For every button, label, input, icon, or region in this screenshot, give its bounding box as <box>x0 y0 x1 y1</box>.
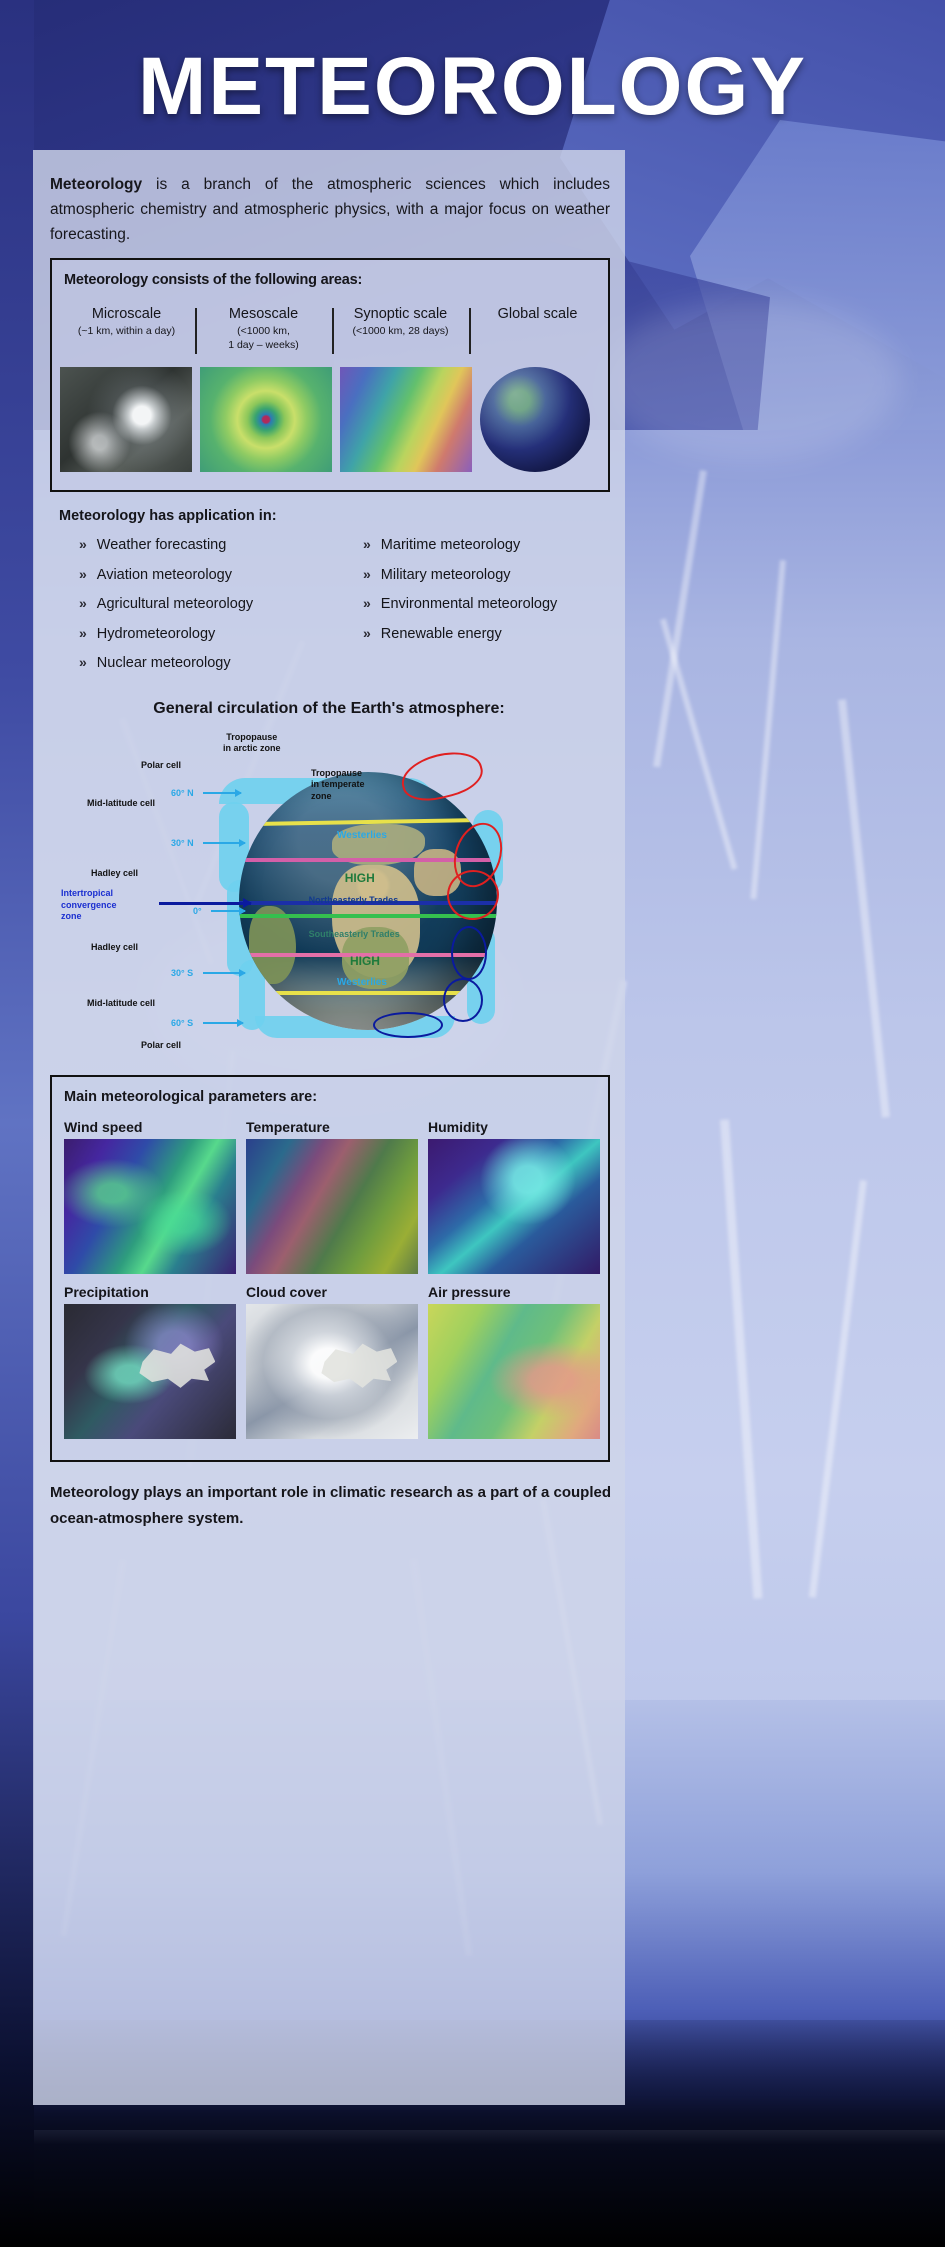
latitude-30n-label: 30° N <box>171 838 194 848</box>
latitude-0-arrow <box>211 910 245 912</box>
parameter-label: Wind speed <box>64 1119 236 1135</box>
footer-text: Meteorology plays an important role in c… <box>50 1480 612 1533</box>
area-name-label: Synoptic scale <box>336 306 465 323</box>
iceland-outline <box>246 1304 418 1439</box>
areas-thumbnail-row <box>60 364 604 474</box>
latitude-30n-arrow <box>203 842 245 844</box>
list-item-label: Hydrometeorology <box>97 626 215 642</box>
westerlies-north-label: Westerlies <box>337 830 387 841</box>
applications-right-column: »Maritime meteorology »Military meteorol… <box>363 536 633 654</box>
list-item-label: Nuclear meteorology <box>97 655 231 671</box>
latitude-60n-arrow <box>203 792 241 794</box>
chevron-right-icon: » <box>79 625 85 641</box>
parameter-air-pressure: Air pressure <box>428 1284 600 1439</box>
areas-label-row: Microscale (~1 km, within a day) Mesosca… <box>58 306 606 358</box>
list-item: »Weather forecasting <box>79 536 379 566</box>
area-name-label: Mesoscale <box>199 306 328 323</box>
list-item-label: Maritime meteorology <box>381 537 520 553</box>
high-south-label: HIGH <box>350 954 380 968</box>
lightning-vein-1 <box>653 470 707 767</box>
area-detail-label: (<1000 km, 1 day – weeks) <box>199 325 328 352</box>
area-synoptic-scale: Synoptic scale (<1000 km, 28 days) <box>332 306 469 339</box>
lightning-vein-3 <box>750 560 786 899</box>
areas-box: Meteorology consists of the following ar… <box>50 258 610 492</box>
parameters-box: Main meteorological parameters are: Wind… <box>50 1075 610 1462</box>
chevron-right-icon: » <box>79 595 85 611</box>
iceland-outline <box>64 1304 236 1439</box>
humidity-map <box>428 1139 600 1274</box>
list-item: »Hydrometeorology <box>79 625 379 655</box>
list-item: »Renewable energy <box>363 625 633 655</box>
mid-latitude-cell-south-label: Mid-latitude cell <box>87 998 155 1008</box>
parameter-label: Cloud cover <box>246 1284 418 1300</box>
chevron-right-icon: » <box>363 595 369 611</box>
list-item-label: Environmental meteorology <box>381 596 558 612</box>
northeasterly-trades-label: Northeasterly Trades <box>309 895 399 905</box>
list-item-label: Renewable energy <box>381 626 502 642</box>
cloud-puff-1 <box>600 300 900 460</box>
polar-circulation-loop-south-3 <box>373 1012 443 1038</box>
infographic-poster: METEOROLOGY Meteorology is a branch of t… <box>0 0 945 2247</box>
chevron-right-icon: » <box>363 625 369 641</box>
list-item: »Agricultural meteorology <box>79 595 379 625</box>
area-global-scale: Global scale <box>469 306 606 325</box>
polar-cell-south-label: Polar cell <box>141 1040 181 1050</box>
cloud-cover-map <box>246 1304 418 1439</box>
tropopause-temperate-label: Tropopause in temperate zone <box>311 768 365 802</box>
list-item-label: Aviation meteorology <box>97 567 232 583</box>
latitude-60s-label: 60° S <box>171 1018 193 1028</box>
earth-globe-image <box>480 367 590 472</box>
precipitation-map <box>64 1304 236 1439</box>
list-item-label: Weather forecasting <box>97 537 227 553</box>
chevron-right-icon: » <box>363 566 369 582</box>
latitude-60n-label: 60° N <box>171 788 194 798</box>
lightning-vein-4 <box>838 699 890 1118</box>
chevron-right-icon: » <box>79 566 85 582</box>
hurricane-swirl-image <box>200 367 332 472</box>
area-name-label: Microscale <box>62 306 191 323</box>
latitude-30s-arrow <box>203 972 245 974</box>
lightning-vein-6 <box>720 1119 762 1598</box>
itcz-arrow <box>159 902 251 905</box>
wind-speed-map <box>64 1139 236 1274</box>
list-item: »Military meteorology <box>363 566 633 596</box>
circulation-heading: General circulation of the Earth's atmos… <box>33 700 625 718</box>
parameter-precipitation: Precipitation <box>64 1284 236 1439</box>
list-item: »Environmental meteorology <box>363 595 633 625</box>
parameter-label: Precipitation <box>64 1284 236 1300</box>
list-item-label: Military meteorology <box>381 567 511 583</box>
polar-circulation-loop-south-1 <box>451 926 487 980</box>
list-item: »Nuclear meteorology <box>79 654 379 684</box>
tropopause-arctic-label: Tropopause in arctic zone <box>223 732 281 755</box>
content-card: Meteorology is a branch of the atmospher… <box>33 150 625 2105</box>
air-pressure-map <box>428 1304 600 1439</box>
chevron-right-icon: » <box>363 536 369 552</box>
parameter-humidity: Humidity <box>428 1119 600 1274</box>
list-item: »Aviation meteorology <box>79 566 379 596</box>
applications-left-column: »Weather forecasting »Aviation meteorolo… <box>79 536 379 684</box>
parameters-heading: Main meteorological parameters are: <box>64 1089 317 1105</box>
polar-circulation-loop-south-2 <box>443 978 483 1022</box>
high-north-label: HIGH <box>345 871 375 885</box>
hadley-cell-north-label: Hadley cell <box>91 868 138 878</box>
polar-cell-north-label: Polar cell <box>141 760 181 770</box>
circulation-diagram: Westerlies HIGH Northeasterly Trades Sou… <box>43 730 615 1060</box>
page-title: METEOROLOGY <box>0 40 945 134</box>
parameter-label: Air pressure <box>428 1284 600 1300</box>
hadley-cell-south-label: Hadley cell <box>91 942 138 952</box>
left-edge-band <box>0 0 34 2247</box>
parameters-grid: Wind speed Temperature Humidity Precipit… <box>64 1119 600 1449</box>
satellite-cloud-image <box>60 367 192 472</box>
list-item-label: Agricultural meteorology <box>97 596 253 612</box>
mid-latitude-cell-north-label: Mid-latitude cell <box>87 798 155 808</box>
temperature-map <box>246 1139 418 1274</box>
westerlies-south-label: Westerlies <box>337 977 387 988</box>
parameter-cloud-cover: Cloud cover <box>246 1284 418 1439</box>
parameter-temperature: Temperature <box>246 1119 418 1274</box>
area-microscale: Microscale (~1 km, within a day) <box>58 306 195 339</box>
area-name-label: Global scale <box>473 306 602 323</box>
area-mesoscale: Mesoscale (<1000 km, 1 day – weeks) <box>195 306 332 352</box>
parameters-row-2: Precipitation Cloud cover Air pressure <box>64 1284 600 1439</box>
regional-weather-map-image <box>340 367 472 472</box>
lightning-vein-2 <box>660 618 737 870</box>
intro-lead-word: Meteorology <box>50 176 142 193</box>
parameter-label: Temperature <box>246 1119 418 1135</box>
intro-paragraph: Meteorology is a branch of the atmospher… <box>50 172 610 247</box>
lightning-vein-7 <box>809 1180 867 1598</box>
latitude-0-label: 0° <box>193 906 202 916</box>
applications-heading: Meteorology has application in: <box>59 508 277 524</box>
area-detail-label: (~1 km, within a day) <box>62 325 191 338</box>
area-detail-label: (<1000 km, 28 days) <box>336 325 465 338</box>
latitude-30s-label: 30° S <box>171 968 193 978</box>
globe-sheen <box>480 367 590 472</box>
latitude-60s-arrow <box>203 1022 243 1024</box>
parameter-wind-speed: Wind speed <box>64 1119 236 1274</box>
chevron-right-icon: » <box>79 654 85 670</box>
list-item: »Maritime meteorology <box>363 536 633 566</box>
areas-heading: Meteorology consists of the following ar… <box>64 272 362 288</box>
parameter-label: Humidity <box>428 1119 600 1135</box>
southeasterly-trades-label: Southeasterly Trades <box>309 929 400 939</box>
itcz-label: Intertropical convergence zone <box>61 888 117 923</box>
chevron-right-icon: » <box>79 536 85 552</box>
parameters-row-1: Wind speed Temperature Humidity <box>64 1119 600 1274</box>
